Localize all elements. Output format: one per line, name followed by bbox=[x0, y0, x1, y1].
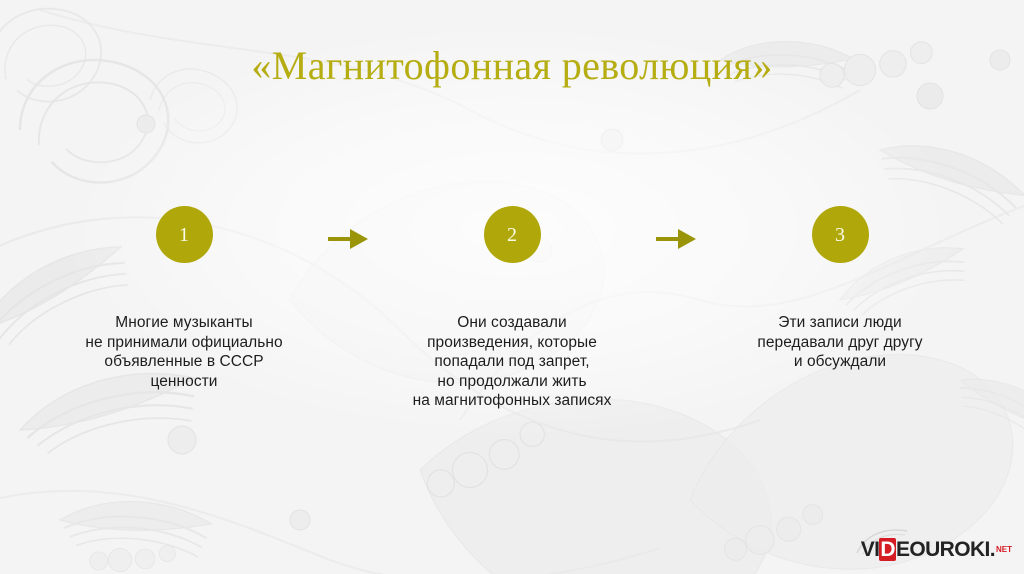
step-item-2: 2 Они создавали произведения, которые по… bbox=[362, 206, 662, 411]
step-description-1: Многие музыканты не принимали официально… bbox=[34, 313, 334, 391]
page-title: «Магнитофонная революция» bbox=[0, 43, 1024, 89]
slide: «Магнитофонная революция» 1 Многие музык… bbox=[0, 0, 1024, 574]
watermark-tld: NET bbox=[996, 545, 1012, 554]
step-item-3: 3 Эти записи люди передавали друг другу … bbox=[690, 206, 990, 372]
step-number-badge-2: 2 bbox=[484, 206, 541, 263]
step-number-badge-1: 1 bbox=[156, 206, 213, 263]
step-description-3: Эти записи люди передавали друг другу и … bbox=[690, 313, 990, 372]
step-item-1: 1 Многие музыканты не принимали официаль… bbox=[34, 206, 334, 391]
watermark-text-part2: EOUROKI. bbox=[896, 538, 995, 561]
watermark-highlight-letter: D bbox=[879, 538, 896, 561]
arrow-right-icon bbox=[654, 226, 698, 252]
watermark-text-part1: VI bbox=[861, 538, 880, 561]
step-description-2: Они создавали произведения, которые попа… bbox=[362, 313, 662, 411]
watermark-logo: VIDEOUROKI. NET bbox=[861, 538, 1012, 562]
arrow-right-icon bbox=[326, 226, 370, 252]
step-number-badge-3: 3 bbox=[812, 206, 869, 263]
